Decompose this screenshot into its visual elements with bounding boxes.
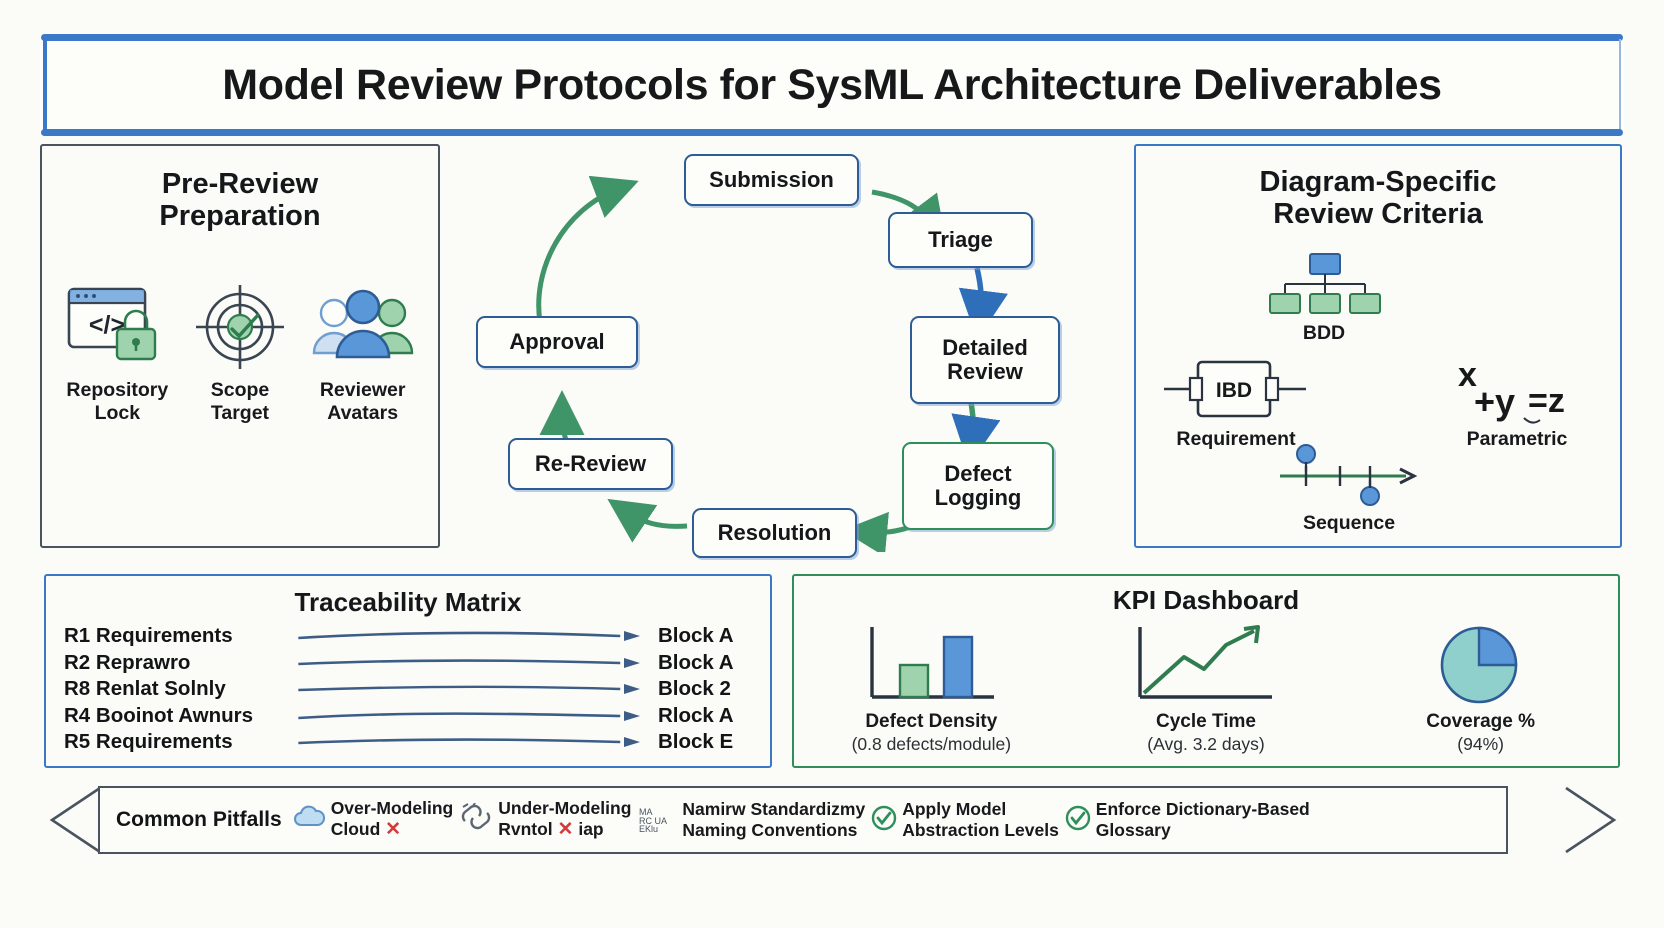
sequence-timeline-icon — [1274, 442, 1424, 513]
kpi-title: KPI Dashboard — [794, 586, 1618, 615]
criteria-label-sequence: Sequence — [1254, 512, 1444, 535]
pre-review-label-repository-lock: Repository Lock — [58, 379, 176, 426]
traceability-matrix-panel: Traceability Matrix R1 Requirements Bloc… — [44, 574, 772, 768]
cycle-node-defect-logging-line2: Logging — [935, 486, 1022, 510]
trace-target: Block E — [642, 730, 752, 754]
pre-review-icon-row: </> Repository Lock — [42, 277, 438, 426]
table-row[interactable]: R8 Renlat Solnly Block 2 — [64, 676, 752, 703]
right-panel-title: Diagram-Specific Review Criteria — [1136, 166, 1620, 231]
pitfall-item-over-modeling[interactable]: Over-Modeling Cloud ✕ — [292, 798, 454, 841]
trace-arrow-icon — [294, 656, 642, 670]
kpi-value: (94%) — [1356, 734, 1606, 755]
traceability-rows: R1 Requirements Block A R2 Reprawro — [46, 623, 770, 756]
cycle-node-resolution[interactable]: Resolution — [692, 508, 857, 558]
pitfall-item-enforce-glossary[interactable]: Enforce Dictionary-Based Glossary — [1065, 799, 1310, 840]
kpi-dashboard-panel: KPI Dashboard Defect Density (0.8 defect… — [792, 574, 1620, 768]
pre-review-item-repository-lock[interactable]: </> Repository Lock — [58, 277, 176, 426]
criteria-label-parametric: Parametric — [1432, 428, 1602, 451]
pitfall-item-apply-model-abstraction[interactable]: Apply Model Abstraction Levels — [871, 799, 1059, 840]
trace-target: Block 2 — [642, 677, 752, 701]
common-pitfalls-ribbon: Common Pitfalls Over-Modeling Cloud ✕ — [38, 782, 1628, 862]
pre-review-item-scope-target[interactable]: Scope Target — [181, 277, 299, 426]
repository-lock-icon: </> — [58, 277, 176, 369]
pitfall-item-under-modeling[interactable]: Under-Modeling Rvntol ✕ iap — [459, 798, 631, 841]
pitfall-text: Enforce Dictionary-Based Glossary — [1096, 799, 1310, 840]
kpi-metric-cycle-time[interactable]: Cycle Time (Avg. 3.2 days) — [1081, 621, 1331, 755]
page-title: Model Review Protocols for SysML Archite… — [222, 61, 1441, 110]
trace-source: R5 Requirements — [64, 730, 294, 754]
pitfall-text: Namirw Standardizmy Naming Conventions — [682, 799, 865, 840]
cycle-node-re-review[interactable]: Re-Review — [508, 438, 673, 490]
cross-icon: ✕ — [385, 819, 401, 840]
scribble-text-icon: MA RC UA EKlu — [637, 803, 677, 838]
cycle-node-defect-logging-line1: Defect — [944, 462, 1011, 486]
bdd-tree-icon — [1264, 252, 1384, 323]
reviewer-avatars-icon — [304, 277, 422, 369]
pre-review-label-scope-target: Scope Target — [181, 379, 299, 426]
kpi-value: (Avg. 3.2 days) — [1081, 734, 1331, 755]
line-chart-icon — [1081, 621, 1331, 707]
kpi-label: Cycle Time — [1081, 711, 1331, 733]
infographic-canvas: Model Review Protocols for SysML Archite… — [0, 0, 1664, 928]
review-cycle-diagram: Submission Triage Detailed Review Defect… — [452, 140, 1132, 552]
cycle-node-submission[interactable]: Submission — [684, 154, 859, 206]
check-circle-icon — [1065, 805, 1091, 836]
pre-review-label-reviewer-avatars: Reviewer Avatars — [304, 379, 422, 426]
page-title-banner: Model Review Protocols for SysML Archite… — [40, 36, 1624, 134]
trace-arrow-icon — [294, 629, 642, 643]
pre-review-preparation-panel: Pre-Review Preparation </> — [40, 144, 440, 548]
kpi-metric-coverage[interactable]: Coverage % (94%) — [1356, 621, 1606, 755]
cycle-node-triage[interactable]: Triage — [888, 212, 1033, 268]
traceability-title: Traceability Matrix — [46, 588, 770, 617]
table-row[interactable]: R4 Booinot Awnurs Rlock A — [64, 703, 752, 730]
cycle-node-approval[interactable]: Approval — [476, 316, 638, 368]
cycle-node-detailed-review-line1: Detailed — [942, 336, 1028, 360]
pitfall-text: Over-Modeling Cloud ✕ — [331, 798, 454, 841]
pitfall-text: Apply Model Abstraction Levels — [902, 799, 1059, 840]
trace-source: R4 Booinot Awnurs — [64, 704, 294, 728]
trace-target: Rlock A — [642, 704, 752, 728]
kpi-value: (0.8 defects/module) — [806, 734, 1056, 755]
ribbon-body: Common Pitfalls Over-Modeling Cloud ✕ — [98, 786, 1508, 854]
pitfall-item-naming-conventions[interactable]: MA RC UA EKlu Namirw Standardizmy Naming… — [637, 799, 865, 840]
trace-target: Block A — [642, 651, 752, 675]
trace-source: R2 Reprawro — [64, 651, 294, 675]
trace-arrow-icon — [294, 709, 642, 723]
trace-source: R1 Requirements — [64, 624, 294, 648]
ibd-block-icon: IBD — [1156, 354, 1316, 429]
cycle-node-detailed-review-line2: Review — [947, 360, 1023, 384]
table-row[interactable]: R2 Reprawro Block A — [64, 650, 752, 677]
table-row[interactable]: R5 Requirements Block E — [64, 729, 752, 756]
kpi-metrics-row: Defect Density (0.8 defects/module) Cycl… — [794, 621, 1618, 755]
bar-chart-icon — [806, 621, 1056, 707]
check-circle-icon — [871, 805, 897, 836]
left-panel-title: Pre-Review Preparation — [42, 168, 438, 233]
svg-text:IBD: IBD — [1216, 379, 1252, 402]
cloud-icon — [292, 804, 326, 835]
scope-target-icon — [181, 277, 299, 369]
svg-text:=z: =z — [1528, 382, 1565, 420]
ribbon-title: Common Pitfalls — [116, 808, 282, 832]
svg-text:EKlu: EKlu — [639, 824, 658, 833]
kpi-label: Coverage % — [1356, 711, 1606, 733]
cross-icon: ✕ — [558, 819, 574, 840]
kpi-label: Defect Density — [806, 711, 1056, 733]
criteria-label-bdd: BDD — [1264, 322, 1384, 345]
broken-link-icon — [459, 803, 493, 836]
trace-source: R8 Renlat Solnly — [64, 677, 294, 701]
cycle-node-detailed-review[interactable]: Detailed Review — [910, 316, 1060, 404]
trace-target: Block A — [642, 624, 752, 648]
parametric-equation-icon: x +y =z — [1436, 352, 1586, 433]
pitfall-text: Under-Modeling Rvntol ✕ iap — [498, 798, 631, 841]
trace-arrow-icon — [294, 682, 642, 696]
svg-text:+y: +y — [1474, 381, 1515, 422]
pre-review-item-reviewer-avatars[interactable]: Reviewer Avatars — [304, 277, 422, 426]
trace-arrow-icon — [294, 735, 642, 749]
pie-chart-icon — [1356, 621, 1606, 707]
table-row[interactable]: R1 Requirements Block A — [64, 623, 752, 650]
cycle-node-defect-logging[interactable]: Defect Logging — [902, 442, 1054, 530]
diagram-specific-criteria-panel: Diagram-Specific Review Criteria BDD IBD — [1134, 144, 1622, 548]
kpi-metric-defect-density[interactable]: Defect Density (0.8 defects/module) — [806, 621, 1056, 755]
